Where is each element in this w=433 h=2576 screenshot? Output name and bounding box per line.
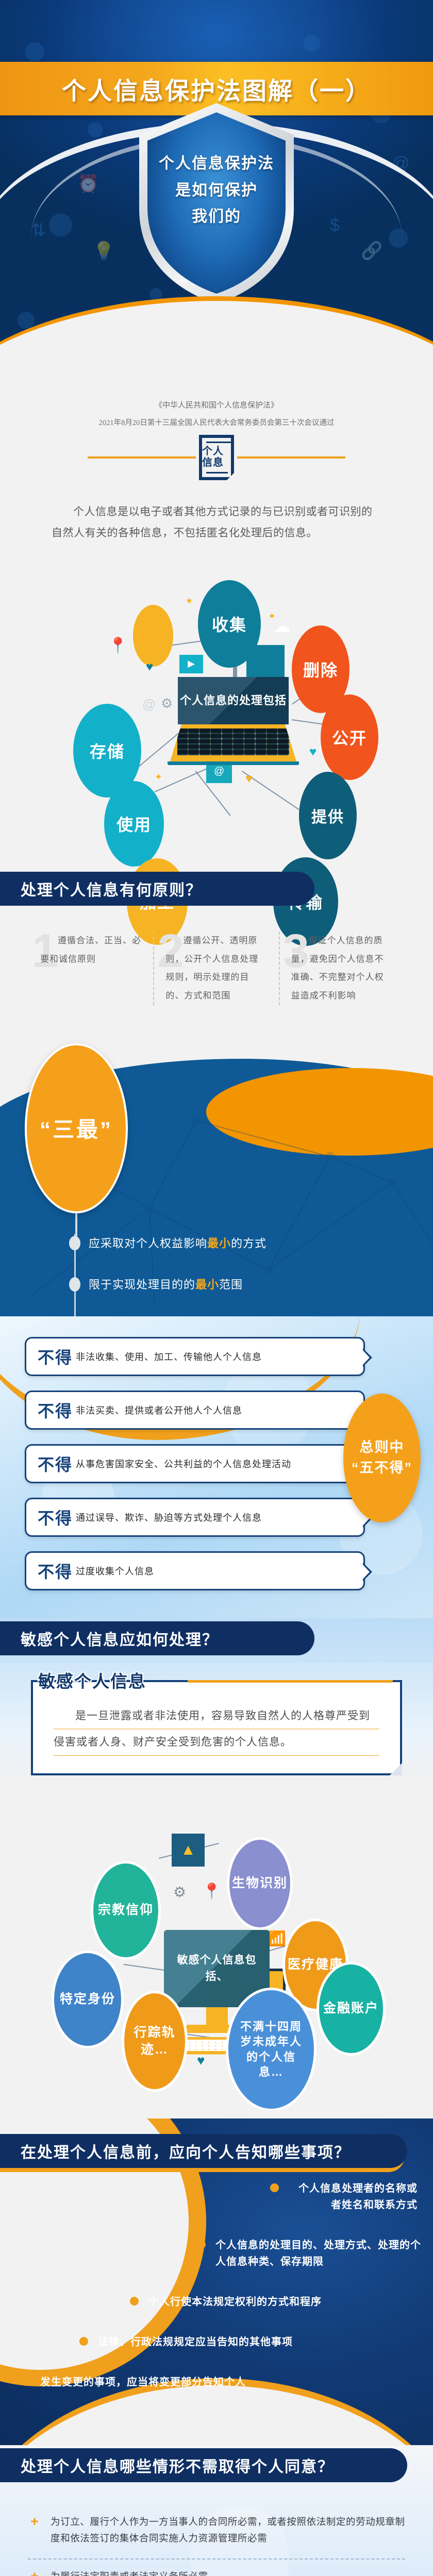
sensitive-card: 敏感个人信息 是一旦泄露或者非法使用，容易导致自然人的人格尊严受到侵害或者人身、…: [31, 1680, 402, 1775]
five-forbids-list: 不得 非法收集、使用、加工、传输他人个人信息 不得 非法买卖、提供或者公开他人个…: [25, 1337, 365, 1590]
heart-icon: ♥: [146, 660, 153, 674]
bubble-label: 收集: [212, 612, 247, 636]
laptop-icon: 个人信息的处理包括: [178, 677, 289, 765]
gear-icon: ⚙: [173, 1884, 186, 1901]
divider-left: [88, 456, 196, 459]
bubble-financial: 金融账户: [317, 1962, 386, 2056]
item-keyword: 最小: [195, 1278, 219, 1291]
notice-text: 法律、行政法规规定应当告知的其他事项: [98, 2334, 366, 2350]
exempt-list: + 为订立、履行个人作为一方当事人的合同所必需，或者按照依法制定的劳动规章制度和…: [0, 2489, 433, 2576]
bubble-label: 行踪轨迹…: [124, 2024, 185, 2058]
exempt-item: + 为订立、履行个人作为一方当事人的合同所必需，或者按照依法制定的劳动规章制度和…: [28, 2505, 405, 2560]
bubble-label: 宗教信仰: [98, 1902, 154, 1919]
law-adopted: 2021年8月20日第十三届全国人民代表大会常务委员会第三十次会议通过: [0, 415, 433, 432]
bubble-use: 使用: [104, 781, 164, 867]
three-most-item: 应采取对个人权益影响最小的方式: [66, 1234, 406, 1254]
principle-item: 1 遵循合法、正当、必要和诚信原则: [29, 931, 153, 1005]
notice-header: 在处理个人信息前，应向个人告知哪些事项？: [0, 2131, 433, 2175]
sensitive-diagram: ▲ ⚙ 📍 💬 📶 ♥ 敏感个人信息包括、 生物识别 宗教信仰 医疗健康 特定身…: [0, 1781, 433, 2110]
bubble-label: 存储: [90, 739, 125, 762]
bubble-label: 提供: [311, 804, 344, 827]
bubble-provide: 提供: [299, 772, 357, 859]
forbid-keyword: 不得: [38, 1505, 73, 1529]
item-keyword: 最小: [207, 1237, 231, 1250]
notice-text: 个人信息处理者的名称或者姓名和联系方式: [289, 2180, 418, 2213]
forbid-item: 不得 通过误导、欺诈、胁迫等方式处理个人信息: [25, 1498, 365, 1537]
at-icon: @: [142, 697, 156, 713]
three-most-badge: “三最”: [25, 1043, 128, 1213]
sensitive-heading: 敏感个人信息应如何处理？: [0, 1627, 219, 1650]
plus-icon: +: [28, 2514, 41, 2530]
connector-line: [155, 768, 207, 792]
bullet-dot: [270, 2183, 279, 2192]
forbid-keyword: 不得: [38, 1345, 73, 1368]
shield-line-1: 个人信息保护法: [139, 150, 294, 177]
heart-icon: ♥: [309, 745, 317, 759]
infographic-page: ✉ ⏰ ⚙ @ ⇅ 💡 🔗 ⚙ 🛒 $ 个人信息保护法图解（一） 个人信息保护法…: [0, 0, 433, 2576]
principles-columns: 1 遵循合法、正当、必要和诚信原则 2 遵循公开、透明原则，公开个人信息处理规则…: [0, 913, 433, 1028]
item-prefix: 应采取对个人权益影响: [89, 1237, 207, 1250]
shield-line-3: 我们的: [139, 204, 294, 230]
bubble-label: 不满十四周岁未成年人的个人信息…: [237, 2019, 306, 2079]
principle-item: 3 保证个人信息的质量，避免因个人信息不准确、不完整对个人权益造成不利影响: [279, 931, 404, 1005]
three-most-item: 限于实现处理目的的最小范围: [66, 1275, 406, 1295]
play-icon: ▶: [179, 655, 203, 673]
sensitive-card-title: 敏感个人信息: [38, 1668, 146, 1692]
page-title: 个人信息保护法图解（一）: [62, 71, 371, 107]
bullet-dot: [22, 2377, 30, 2386]
pin-icon: 📍: [202, 1883, 221, 1901]
bubble-trajectory: 行踪轨迹…: [122, 1991, 188, 2092]
principle-item: 2 遵循公开、透明原则，公开个人信息处理规则，明示处理的目的、方式和范围: [153, 931, 278, 1005]
bubble-label: 公开: [332, 725, 367, 749]
bubble-label: 使用: [116, 812, 152, 836]
notice-text: 发生变更的事项，应当将变更部分告知个人: [40, 2374, 349, 2391]
cloud-icon: ☁: [273, 616, 291, 637]
law-metadata: 《中华人民共和国个人信息保护法》 2021年8月20日第十三届全国人民代表大会常…: [0, 397, 433, 433]
three-most-list: 应采取对个人权益影响最小的方式 限于实现处理目的的最小范围 个人信息的保存期限应…: [66, 1234, 406, 1316]
definition-badge-row: 个人信息: [0, 433, 433, 480]
item-suffix: 范围: [219, 1278, 243, 1291]
bubble-label: 特定身份: [60, 1991, 115, 2008]
forbid-text: 非法收集、使用、加工、传输他人个人信息: [76, 1350, 262, 1363]
heart-icon: ♥: [197, 2053, 205, 2069]
exempt-text: 为履行法定职责或者法定义务所必需: [51, 2569, 208, 2576]
forbid-text: 从事危害国家安全、公共利益的个人信息处理活动: [76, 1457, 291, 1470]
exempt-header: 处理个人信息哪些情形不需取得个人同意？: [0, 2445, 433, 2489]
bubble-minors: 不满十四周岁未成年人的个人信息…: [226, 1988, 317, 2111]
decor-bubble: [133, 605, 173, 667]
forbid-text: 通过误导、欺诈、胁迫等方式处理个人信息: [76, 1511, 262, 1524]
item-suffix: 的方式: [231, 1237, 267, 1250]
notice-item: 个人信息的处理目的、处理方式、处理的个人信息种类、保存期限: [215, 2237, 422, 2270]
bubble-collect: 收集: [198, 580, 261, 668]
exempt-heading: 处理个人信息哪些情形不需取得个人同意？: [0, 2454, 334, 2477]
wifi-icon: 📶: [268, 1930, 286, 1947]
forbid-text: 过度收集个人信息: [76, 1564, 154, 1578]
title-underline: [188, 1680, 393, 1683]
badge-line-1: 总则中: [360, 1437, 405, 1458]
notice-blue-panel: 在处理个人信息前，应向个人告知哪些事项？ 个人信息处理者的名称或者姓名和联系方式…: [0, 2119, 433, 2445]
bubble-public: 公开: [321, 694, 378, 780]
notice-text: 个人信息的处理目的、处理方式、处理的个人信息种类、保存期限: [215, 2237, 422, 2270]
bubble-label: 生物识别: [232, 1875, 288, 1892]
principles-section: 处理个人信息有何原则？ 1 遵循合法、正当、必要和诚信原则 2 遵循公开、透明原…: [0, 869, 433, 1028]
forbid-keyword: 不得: [38, 1398, 73, 1422]
forbid-keyword: 不得: [38, 1559, 73, 1583]
gear-icon: ⚙: [161, 696, 173, 711]
five-forbids-section: 总则中 “五不得” 不得 非法收集、使用、加工、传输他人个人信息 不得 非法买卖…: [0, 1316, 433, 1618]
three-most-section: “三最” 应采取对个人权益影响最小的方式 限于实现处理目的的最小范围 个人信息的…: [0, 1028, 433, 1316]
sensitive-card-wrap: 敏感个人信息 是一旦泄露或者非法使用，容易导致自然人的人格尊严受到侵害或者人身、…: [0, 1663, 433, 1781]
hero-banner: ✉ ⏰ ⚙ @ ⇅ 💡 🔗 ⚙ 🛒 $ 个人信息保护法图解（一） 个人信息保护法…: [0, 0, 433, 433]
document-icon: 个人信息: [199, 435, 234, 480]
bullet-dot: [197, 2240, 206, 2249]
three-most-label: “三最”: [40, 1112, 113, 1144]
forbid-text: 非法买卖、提供或者公开他人个人信息: [76, 1403, 242, 1417]
exempt-section: 处理个人信息哪些情形不需取得个人同意？ + 为订立、履行个人作为一方当事人的合同…: [0, 2445, 433, 2576]
divider-right: [237, 456, 345, 459]
star-icon: ★: [186, 596, 193, 606]
notice-item: 个人信息处理者的名称或者姓名和联系方式: [289, 2180, 418, 2213]
bullet-dot: [79, 2337, 88, 2346]
heart-icon: ♥: [245, 772, 253, 786]
diagram-center-label: 个人信息的处理包括: [178, 677, 289, 724]
image-icon: ▲: [172, 1834, 205, 1867]
badge-line-2: “五不得”: [352, 1458, 412, 1478]
principle-text: 保证个人信息的质量，避免因个人信息不准确、不完整对个人权益造成不利影响: [291, 931, 393, 1005]
notice-item: 个人行使本法规定权利的方式和程序: [148, 2294, 380, 2310]
sparkle-icon: ✦: [268, 611, 276, 622]
shield-line-2: 是如何保护: [139, 177, 294, 204]
shield-graphic: 个人信息保护法 是如何保护 我们的: [139, 103, 294, 304]
notice-list: 个人信息处理者的名称或者姓名和联系方式 个人信息的处理目的、处理方式、处理的个人…: [0, 2180, 433, 2391]
bubble-label: 金融账户: [323, 2000, 379, 2017]
sparkle-icon: ✦: [155, 772, 162, 783]
forbid-keyword: 不得: [38, 1452, 73, 1476]
plus-icon: +: [28, 2569, 41, 2576]
forbid-item: 不得 从事危害国家安全、公共利益的个人信息处理活动: [25, 1444, 365, 1483]
header-bar: 敏感个人信息应如何处理？: [0, 1621, 314, 1655]
item-prefix: 限于实现处理目的的: [89, 1278, 195, 1291]
definition-paragraph: 个人信息是以电子或者其他方式记录的与已识别或者可识别的自然人有关的各种信息，不包…: [52, 502, 381, 544]
bubble-label: 删除: [303, 657, 338, 681]
notice-text: 个人行使本法规定权利的方式和程序: [148, 2294, 380, 2310]
notice-heading: 在处理个人信息前，应向个人告知哪些事项？: [0, 2140, 351, 2162]
bubble-religion: 宗教信仰: [91, 1861, 161, 1960]
forbid-item: 不得 非法买卖、提供或者公开他人个人信息: [25, 1391, 365, 1430]
bubble-identity: 特定身份: [52, 1951, 124, 2048]
sensitive-section: 敏感个人信息应如何处理？ 敏感个人信息 是一旦泄露或者非法使用，容易导致自然人的…: [0, 1618, 433, 1781]
principle-text: 遵循公开、透明原则，公开个人信息处理规则，明示处理的目的、方式和范围: [165, 931, 267, 1005]
notice-item: 发生变更的事项，应当将变更部分告知个人: [40, 2374, 349, 2391]
principle-text: 遵循合法、正当、必要和诚信原则: [40, 931, 142, 968]
pin-icon: 📍: [108, 637, 127, 655]
notice-item: 法律、行政法规规定应当告知的其他事项: [98, 2334, 366, 2350]
principles-header: 处理个人信息有何原则？: [0, 869, 433, 913]
header-bar: 在处理个人信息前，应向个人告知哪些事项？: [0, 2134, 407, 2168]
principles-heading: 处理个人信息有何原则？: [0, 877, 202, 900]
law-name: 《中华人民共和国个人信息保护法》: [0, 397, 433, 415]
shield-text: 个人信息保护法 是如何保护 我们的: [139, 150, 294, 230]
header-bar: 处理个人信息哪些情形不需取得个人同意？: [0, 2448, 407, 2482]
exempt-item: + 为履行法定职责或者法定义务所必需: [28, 2560, 405, 2576]
bullet-dot: [130, 2297, 139, 2306]
definition-section: 个人信息 个人信息是以电子或者其他方式记录的与已识别或者可识别的自然人有关的各种…: [0, 433, 433, 549]
bubble-biometric: 生物识别: [227, 1837, 293, 1930]
header-bar: 处理个人信息有何原则？: [0, 872, 314, 906]
sensitive-header: 敏感个人信息应如何处理？: [0, 1618, 433, 1663]
five-forbids-badge: 总则中 “五不得”: [343, 1394, 421, 1522]
forbid-item: 不得 非法收集、使用、加工、传输他人个人信息: [25, 1337, 365, 1376]
doc-badge-label: 个人信息: [202, 446, 231, 468]
forbid-item: 不得 过度收集个人信息: [25, 1551, 365, 1590]
sensitive-card-text: 是一旦泄露或者非法使用，容易导致自然人的人格尊严受到侵害或者人身、财产安全受到危…: [54, 1703, 379, 1756]
notice-section: 在处理个人信息前，应向个人告知哪些事项？ 个人信息处理者的名称或者姓名和联系方式…: [0, 2110, 433, 2445]
exempt-text: 为订立、履行个人作为一方当事人的合同所必需，或者按照依法制定的劳动规章制度和依法…: [51, 2514, 405, 2548]
processing-diagram: ☁ 📍 ♥ ▶ ♥ ⚙ @ ♥ 📶 @ ♥ ♥ ✦ ★ ✦ 个人信息的处理包括 …: [0, 549, 433, 869]
